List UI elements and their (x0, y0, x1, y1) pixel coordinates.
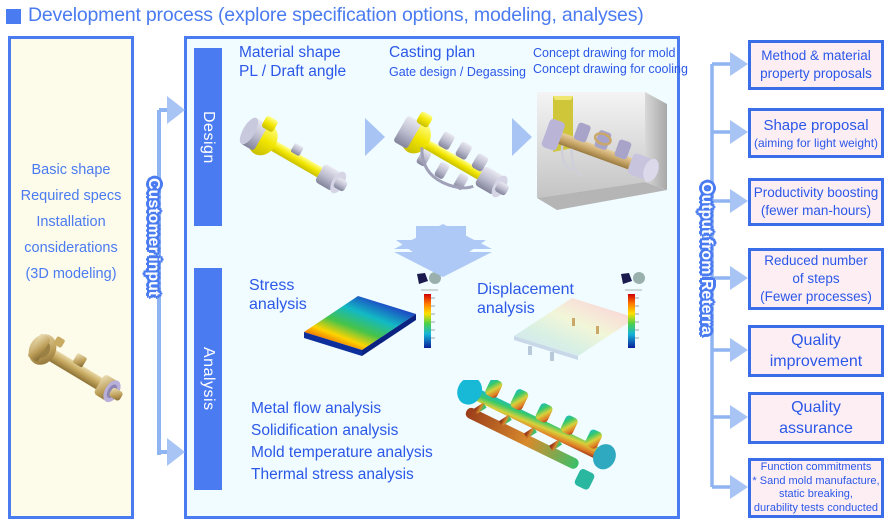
casting-plan-line2: Gate design / Degassing (389, 65, 526, 79)
axle-housing-3d-model-image (17, 309, 131, 429)
displacement-analysis-colorbar-icon (620, 272, 646, 354)
analysis-item-0: Metal flow analysis (251, 398, 433, 420)
square-bullet-icon (6, 9, 21, 24)
output-box-5-line2: improvement (770, 351, 862, 372)
page-title-text: Development process (explore specificati… (28, 4, 644, 27)
customer-input-text: Basic shape Required specs Installation … (11, 157, 131, 287)
output-box-4-line2: of steps (792, 270, 839, 288)
stress-analysis-colorbar-icon (416, 272, 442, 354)
material-shape-model-image (228, 98, 360, 216)
output-box-function-commitments[interactable]: Function commitments * Sand mold manufac… (748, 458, 884, 518)
displacement-analysis-label-line1: Displacement (477, 280, 574, 299)
concept-drawing-line2: Concept drawing for cooling (533, 62, 688, 76)
customer-input-panel: Basic shape Required specs Installation … (8, 36, 134, 519)
output-box-4-line3: (Fewer processes) (760, 288, 872, 306)
metal-flow-analysis-model-image (440, 380, 620, 492)
page-title: Development process (explore specificati… (6, 4, 644, 27)
stress-analysis-label-line2: analysis (249, 295, 307, 314)
stress-analysis-label: Stress analysis (249, 276, 307, 314)
customer-input-label: Customer input (144, 178, 162, 296)
input-line-5: (3D modeling) (11, 261, 131, 287)
column-heading-concept-drawing: Concept drawing for mold Concept drawing… (533, 46, 688, 76)
column-heading-material-shape: Material shape PL / Draft angle (239, 44, 346, 81)
output-box-6-line1: Quality (791, 397, 841, 418)
diagram-root: Development process (explore specificati… (0, 0, 890, 525)
concept-drawing-line1: Concept drawing for mold (533, 46, 688, 60)
output-box-1-line2: property proposals (760, 65, 872, 83)
stress-analysis-plot-image (300, 288, 420, 358)
output-box-3-line1: Productivity boosting (754, 184, 879, 202)
mold-concept-drawing-image (527, 86, 679, 222)
output-box-6-line2: assurance (779, 418, 853, 439)
output-box-2-line2: (aiming for light weight) (754, 135, 878, 151)
analysis-item-3: Thermal stress analysis (251, 464, 433, 486)
output-box-4-line1: Reduced number (764, 252, 868, 270)
output-box-method-material[interactable]: Method & material property proposals (748, 40, 884, 90)
column-heading-casting-plan: Casting plan Gate design / Degassing (389, 44, 526, 79)
output-box-7-line4: durability tests conducted (754, 502, 878, 516)
section-label-analysis: Analysis (199, 347, 217, 411)
analysis-item-2: Mold temperature analysis (251, 442, 433, 464)
section-label-design: Design (199, 111, 217, 164)
section-bar-analysis: Analysis (194, 268, 222, 490)
displacement-analysis-label-line2: analysis (477, 299, 574, 318)
output-box-1-line1: Method & material (761, 47, 871, 65)
output-box-3-line2: (fewer man-hours) (761, 202, 871, 220)
output-box-7-line3: static breaking, (779, 488, 853, 502)
output-box-quality-improvement[interactable]: Quality improvement (748, 325, 884, 377)
section-bar-design: Design (194, 48, 222, 226)
output-box-shape-proposal[interactable]: Shape proposal (aiming for light weight) (748, 108, 884, 158)
output-box-productivity-boosting[interactable]: Productivity boosting (fewer man-hours) (748, 178, 884, 226)
output-box-reduced-steps[interactable]: Reduced number of steps (Fewer processes… (748, 248, 884, 310)
output-from-reterra-label: Output from Reterra (697, 182, 715, 335)
output-box-7-line2: * Sand mold manufacture, (752, 475, 879, 489)
material-shape-line2: PL / Draft angle (239, 63, 346, 81)
input-line-2: Required specs (11, 183, 131, 209)
output-box-5-line1: Quality (791, 330, 841, 351)
input-line-1: Basic shape (11, 157, 131, 183)
displacement-analysis-label: Displacement analysis (477, 280, 574, 318)
output-box-7-line1: Function commitments (761, 461, 872, 475)
casting-plan-line1: Casting plan (389, 44, 526, 62)
analysis-item-1: Solidification analysis (251, 420, 433, 442)
stress-analysis-label-line1: Stress (249, 276, 307, 295)
output-box-quality-assurance[interactable]: Quality assurance (748, 392, 884, 444)
casting-plan-model-image (378, 98, 526, 220)
input-line-4: considerations (11, 235, 131, 261)
material-shape-line1: Material shape (239, 44, 346, 62)
analysis-items-list: Metal flow analysis Solidification analy… (251, 398, 433, 486)
input-line-3: Installation (11, 209, 131, 235)
output-box-2-line1: Shape proposal (763, 116, 868, 135)
